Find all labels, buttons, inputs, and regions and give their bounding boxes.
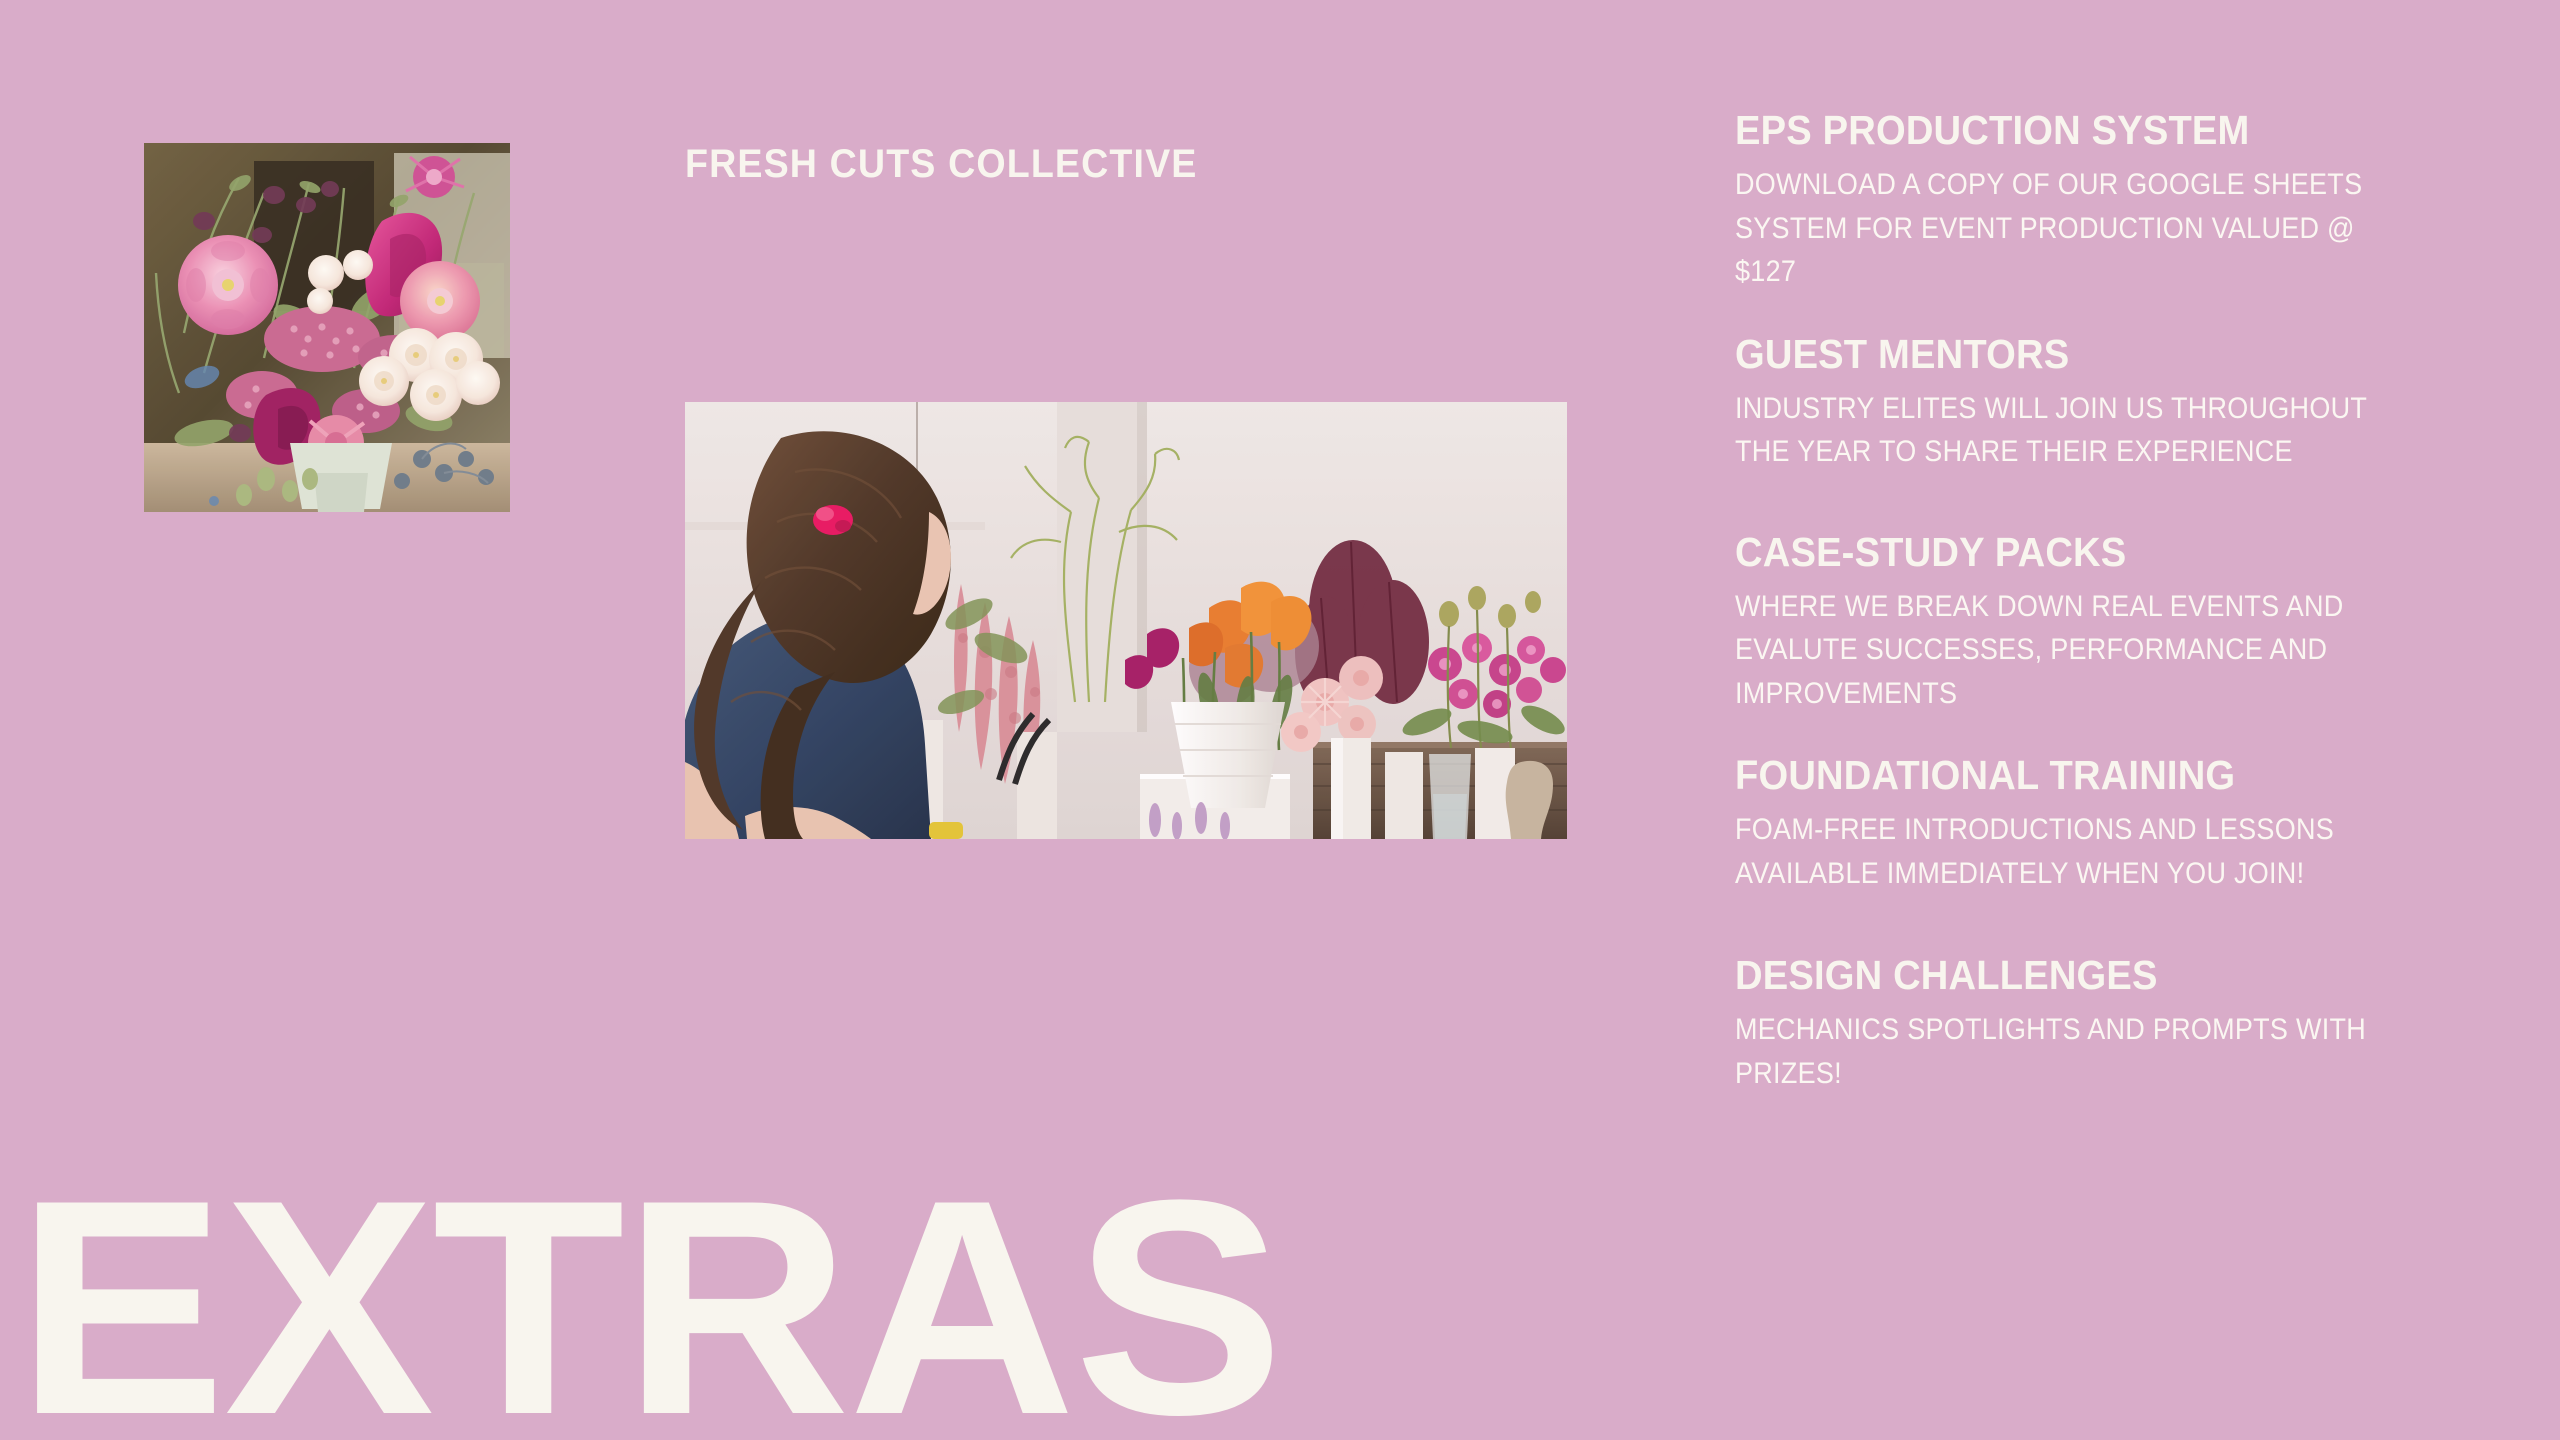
- brand-title: FRESH CUTS COLLECTIVE: [685, 142, 1198, 187]
- feature-item: FOUNDATIONAL TRAINING FOAM-FREE INTRODUC…: [1735, 755, 2495, 895]
- feature-title: CASE-STUDY PACKS: [1735, 532, 2442, 573]
- feature-title: DESIGN CHALLENGES: [1735, 955, 2442, 996]
- feature-title: GUEST MENTORS: [1735, 334, 2442, 375]
- feature-item: DESIGN CHALLENGES MECHANICS SPOTLIGHTS A…: [1735, 955, 2495, 1095]
- bouquet-photo: [144, 143, 510, 512]
- florist-photo-graphic: [685, 402, 1567, 839]
- feature-item: CASE-STUDY PACKS WHERE WE BREAK DOWN REA…: [1735, 532, 2495, 716]
- feature-title: EPS PRODUCTION SYSTEM: [1735, 110, 2442, 151]
- slide-canvas: FRESH CUTS COLLECTIVE: [0, 0, 2560, 1440]
- feature-description: DOWNLOAD A COPY OF OUR GOOGLE SHEETS SYS…: [1735, 163, 2419, 294]
- feature-description: WHERE WE BREAK DOWN REAL EVENTS AND EVAL…: [1735, 585, 2419, 716]
- bouquet-photo-graphic: [144, 143, 510, 512]
- extras-wordmark: EXTRAS: [16, 1188, 1282, 1427]
- feature-description: INDUSTRY ELITES WILL JOIN US THROUGHOUT …: [1735, 387, 2419, 474]
- feature-description: FOAM-FREE INTRODUCTIONS AND LESSONS AVAI…: [1735, 808, 2419, 895]
- feature-item: EPS PRODUCTION SYSTEM DOWNLOAD A COPY OF…: [1735, 110, 2495, 294]
- feature-list: EPS PRODUCTION SYSTEM DOWNLOAD A COPY OF…: [1735, 110, 2495, 1095]
- feature-item: GUEST MENTORS INDUSTRY ELITES WILL JOIN …: [1735, 334, 2495, 474]
- feature-description: MECHANICS SPOTLIGHTS AND PROMPTS WITH PR…: [1735, 1008, 2419, 1095]
- feature-title: FOUNDATIONAL TRAINING: [1735, 755, 2442, 796]
- florist-photo: [685, 402, 1567, 839]
